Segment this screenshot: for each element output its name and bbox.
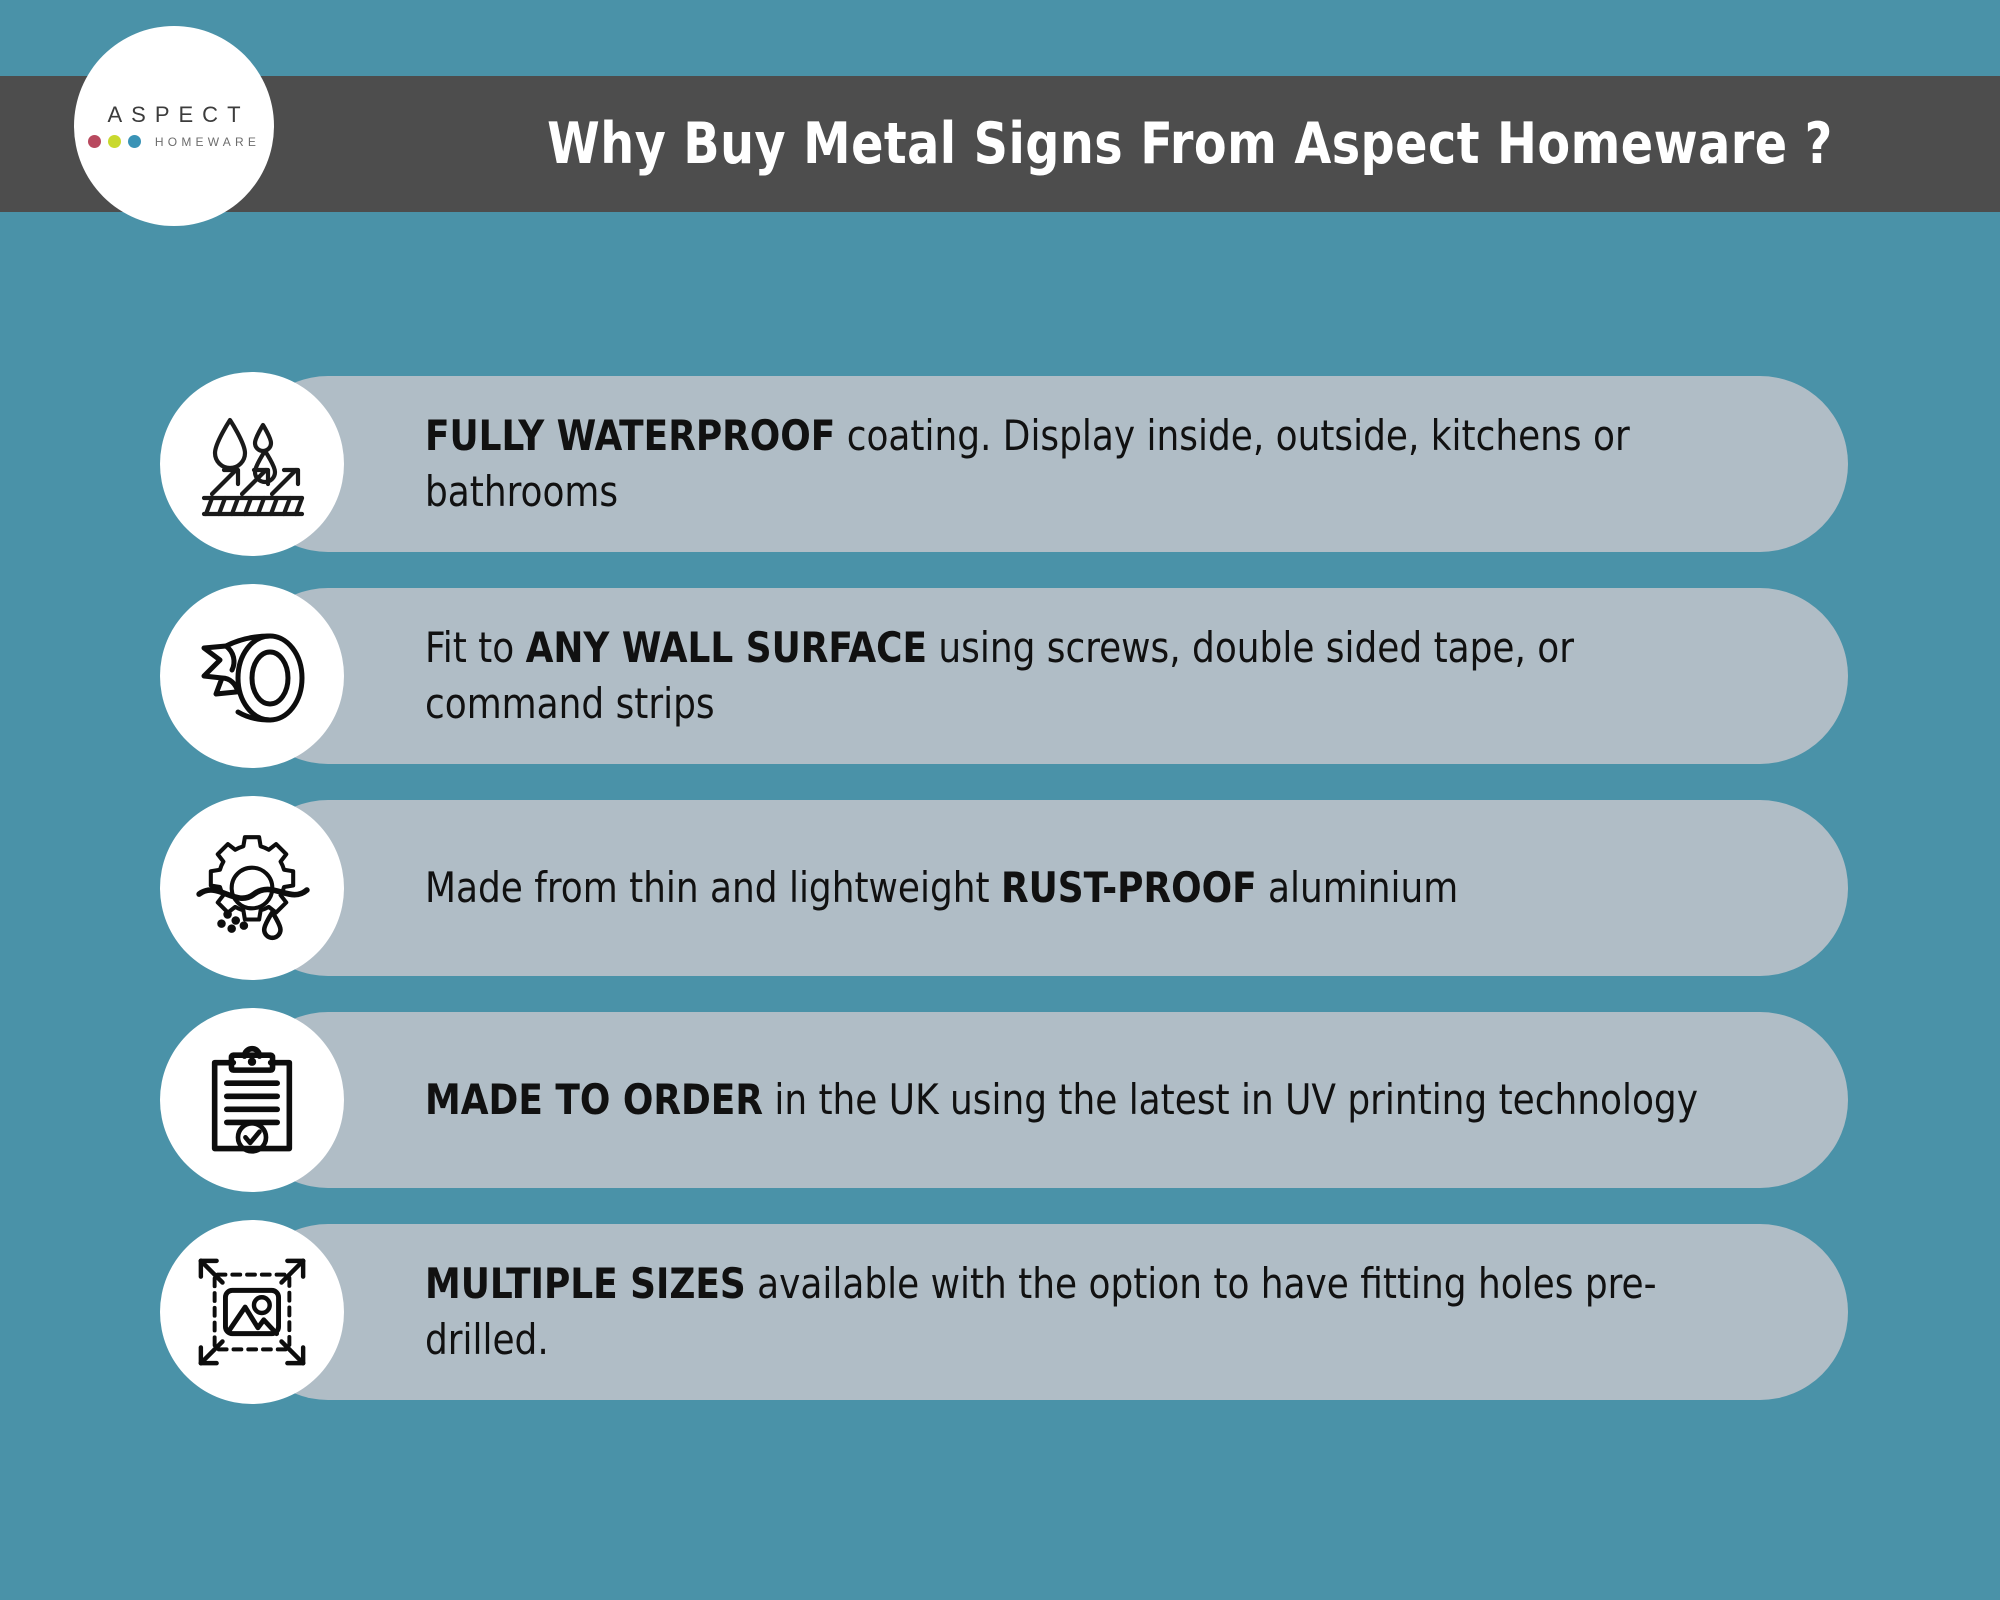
brand-subtitle: HOMEWARE <box>153 136 260 148</box>
brand-logo-badge: ASPECT HOMEWARE <box>74 26 274 226</box>
feature-row: MULTIPLE SIZES available with the option… <box>0 1224 2000 1400</box>
feature-row: Fit to ANY WALL SURFACE using screws, do… <box>0 588 2000 764</box>
feature-row: MADE TO ORDER in the UK using the latest… <box>0 1012 2000 1188</box>
dot-rose-icon <box>88 135 101 148</box>
infographic-page: Why Buy Metal Signs From Aspect Homeware… <box>0 0 2000 1600</box>
dot-blue-icon <box>128 135 141 148</box>
feature-lead: ANY WALL SURFACE <box>526 623 927 672</box>
feature-text: MULTIPLE SIZES available with the option… <box>425 1224 1795 1400</box>
dot-lime-icon <box>108 135 121 148</box>
feature-lead: MADE TO ORDER <box>425 1075 763 1124</box>
feature-rest: aluminium <box>1257 863 1459 912</box>
feature-list: FULLY WATERPROOF coating. Display inside… <box>0 376 2000 1436</box>
feature-pre: Fit to <box>425 623 526 672</box>
feature-text: MADE TO ORDER in the UK using the latest… <box>425 1012 1795 1188</box>
feature-text: Made from thin and lightweight RUST-PROO… <box>425 800 1795 976</box>
brand-subtitle-row: HOMEWARE <box>88 135 260 148</box>
feature-text: Fit to ANY WALL SURFACE using screws, do… <box>425 588 1795 764</box>
feature-row: FULLY WATERPROOF coating. Display inside… <box>0 376 2000 552</box>
page-title: Why Buy Metal Signs From Aspect Homeware… <box>465 96 1916 192</box>
feature-lead: RUST-PROOF <box>1001 863 1257 912</box>
clipboard-check-icon <box>160 1008 344 1192</box>
feature-pre: Made from thin and lightweight <box>425 863 1001 912</box>
feature-rest: in the UK using the latest in UV printin… <box>763 1075 1698 1124</box>
brand-name: ASPECT <box>98 104 249 126</box>
feature-row: Made from thin and lightweight RUST-PROO… <box>0 800 2000 976</box>
feature-lead: FULLY WATERPROOF <box>425 411 835 460</box>
waterproof-icon <box>160 372 344 556</box>
tape-roll-icon <box>160 584 344 768</box>
feature-lead: MULTIPLE SIZES <box>425 1259 746 1308</box>
feature-text: FULLY WATERPROOF coating. Display inside… <box>425 376 1795 552</box>
multiple-sizes-icon <box>160 1220 344 1404</box>
rust-proof-gear-icon <box>160 796 344 980</box>
